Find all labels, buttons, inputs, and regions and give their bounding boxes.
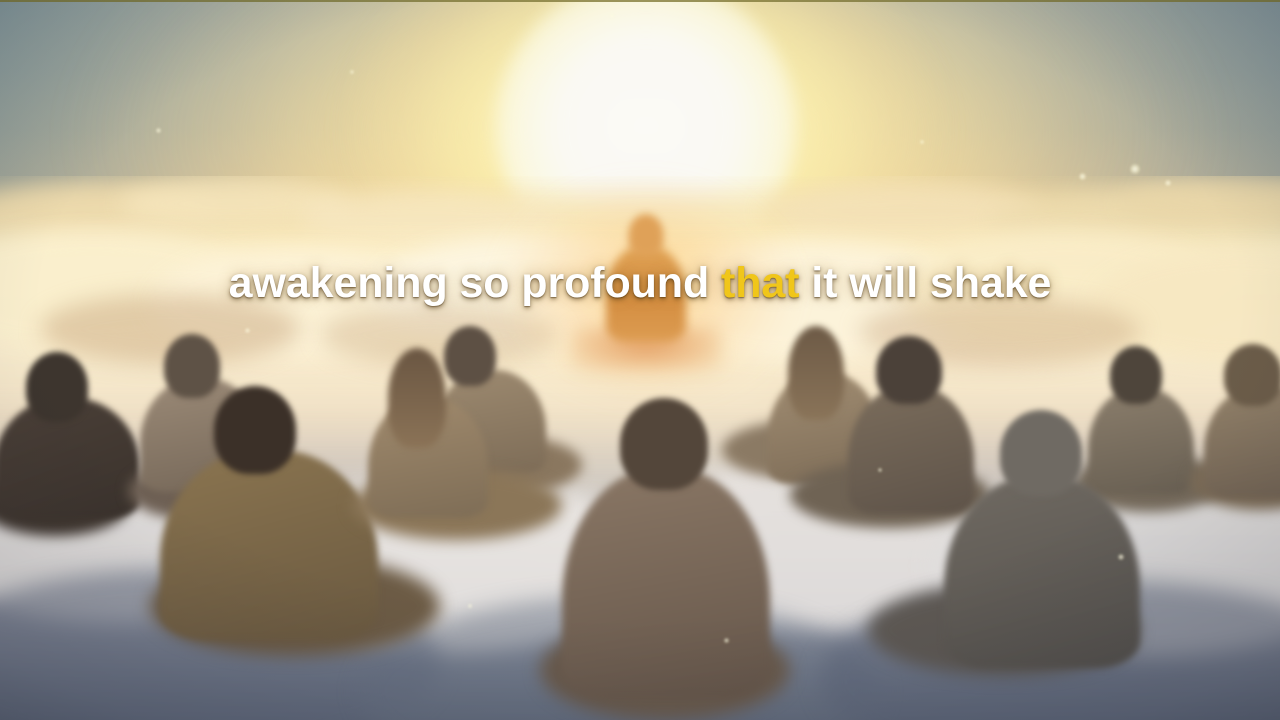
video-frame: awakening so profound that it will shake <box>0 0 1280 720</box>
caption-text-before: awakening so profound <box>229 259 721 307</box>
light-particle <box>350 70 354 74</box>
light-particle <box>920 140 924 144</box>
light-particle <box>1118 554 1124 560</box>
light-particle <box>468 604 472 608</box>
top-edge-line <box>0 0 1280 2</box>
light-particle <box>1130 164 1140 174</box>
light-particle <box>610 14 614 18</box>
light-particle <box>156 128 161 133</box>
light-particle <box>1079 173 1086 180</box>
light-particle <box>245 328 250 333</box>
subtitle-caption: awakening so profound that it will shake <box>0 262 1280 305</box>
caption-text-highlight: that <box>721 259 799 307</box>
caption-text-after: it will shake <box>799 259 1051 307</box>
light-particle <box>724 638 729 643</box>
meditator-head <box>629 214 664 256</box>
light-particle <box>1165 180 1171 186</box>
light-particle <box>878 468 882 472</box>
